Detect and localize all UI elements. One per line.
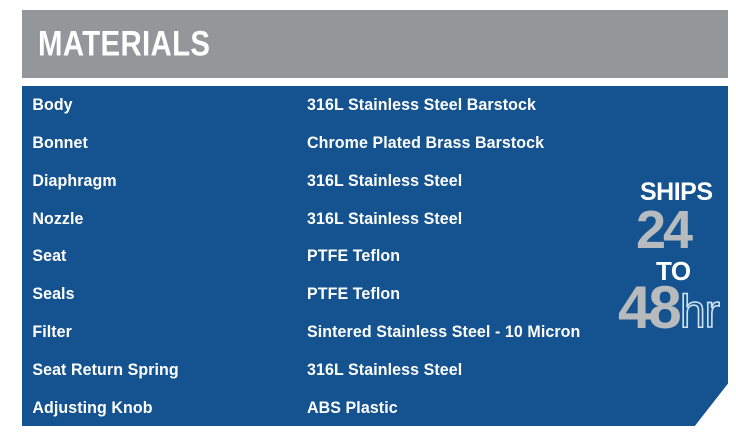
materials-spec-card: MATERIALS Body316L Stainless Steel Barst… xyxy=(0,0,736,432)
material-name-cell: Diaphragm xyxy=(22,172,290,189)
table-row: FilterSintered Stainless Steel - 10 Micr… xyxy=(22,313,728,351)
material-value-cell: ABS Plastic xyxy=(307,399,703,416)
material-name-cell: Seals xyxy=(22,285,290,302)
materials-header-bar: MATERIALS xyxy=(22,10,728,78)
materials-table: Body316L Stainless Steel BarstockBonnetC… xyxy=(22,86,728,426)
material-value-cell: PTFE Teflon xyxy=(307,285,703,302)
material-value-cell: 316L Stainless Steel Barstock xyxy=(307,96,703,113)
material-name-cell: Adjusting Knob xyxy=(22,399,290,416)
material-value-cell: Sintered Stainless Steel - 10 Micron xyxy=(307,323,703,340)
table-row: Body316L Stainless Steel Barstock xyxy=(22,86,728,124)
table-row: SeatPTFE Teflon xyxy=(22,237,728,275)
material-name-cell: Body xyxy=(22,96,290,113)
table-row: Diaphragm316L Stainless Steel xyxy=(22,162,728,200)
materials-panel: Body316L Stainless Steel BarstockBonnetC… xyxy=(22,86,728,426)
material-name-cell: Nozzle xyxy=(22,210,290,227)
table-row: Seat Return Spring316L Stainless Steel xyxy=(22,350,728,388)
material-name-cell: Bonnet xyxy=(22,134,290,151)
table-row: Nozzle316L Stainless Steel xyxy=(22,199,728,237)
material-value-cell: 316L Stainless Steel xyxy=(307,210,703,227)
material-name-cell: Filter xyxy=(22,323,290,340)
material-name-cell: Seat Return Spring xyxy=(22,361,290,378)
material-value-cell: 316L Stainless Steel xyxy=(307,172,703,189)
material-value-cell: Chrome Plated Brass Barstock xyxy=(307,134,703,151)
material-value-cell: 316L Stainless Steel xyxy=(307,361,703,378)
table-row: BonnetChrome Plated Brass Barstock xyxy=(22,124,728,162)
table-row: Adjusting KnobABS Plastic xyxy=(22,388,728,426)
page-title: MATERIALS xyxy=(38,27,210,62)
table-row: SealsPTFE Teflon xyxy=(22,275,728,313)
material-value-cell: PTFE Teflon xyxy=(307,247,703,264)
material-name-cell: Seat xyxy=(22,247,290,264)
